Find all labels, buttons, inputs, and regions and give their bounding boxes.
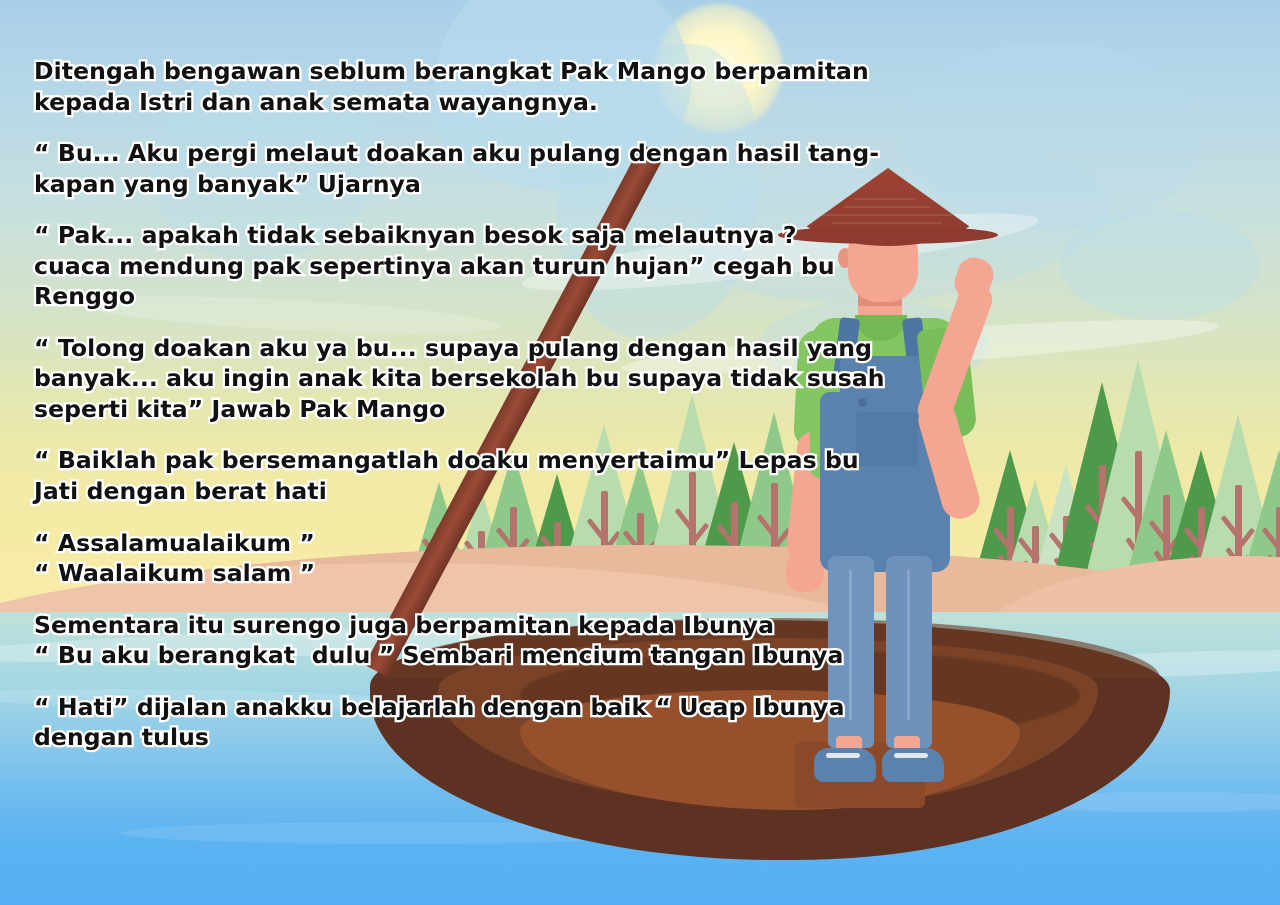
story-line: Sementara itu surengo juga berpamitan ke… [34,610,804,641]
story-line: “ Bu aku berangkat dulu ” Sembari menciu… [34,640,804,671]
story-line: “ Baiklah pak bersemangatlah doaku menye… [34,445,804,476]
story-text-overlay: Ditengah bengawan seblum berangkat Pak M… [34,56,804,753]
overall-button [858,398,867,407]
story-line: “ Pak... apakah tidak sebaiknyan besok s… [34,220,804,251]
story-line: “ Waalaikum salam ” [34,558,804,589]
story-line: “ Tolong doakan aku ya bu... supaya pula… [34,333,804,364]
shoe-band-left [826,753,860,758]
story-line: “ Hati” dijalan anakku belajarlah dengan… [34,692,804,723]
story-line: cuaca mendung pak sepertinya akan turun … [34,251,804,282]
story-line: Jati dengan berat hati [34,476,804,507]
story-paragraph-dialog-pak-mango-2: “ Tolong doakan aku ya bu... supaya pula… [34,333,804,425]
story-paragraph-dialog-bu-renggo: “ Pak... apakah tidak sebaiknyan besok s… [34,220,804,312]
story-line: seperti kita” Jawab Pak Mango [34,394,804,425]
illustration-page: Ditengah bengawan seblum berangkat Pak M… [0,0,1280,905]
story-paragraph-dialog-bu-jati: “ Baiklah pak bersemangatlah doaku menye… [34,445,804,506]
shoe-band-right [894,753,928,758]
story-paragraph-intro: Ditengah bengawan seblum berangkat Pak M… [34,56,804,117]
story-line: banyak... aku ingin anak kita bersekolah… [34,363,804,394]
story-line: Renggo [34,281,804,312]
story-line: Ditengah bengawan seblum berangkat Pak M… [34,56,804,87]
story-line: “ Bu... Aku pergi melaut doakan aku pula… [34,138,804,169]
hat-brim [778,226,998,244]
story-line: dengan tulus [34,722,804,753]
story-line: kapan yang banyak” Ujarnya [34,169,804,200]
story-paragraph-dialog-pak-mango-1: “ Bu... Aku pergi melaut doakan aku pula… [34,138,804,199]
story-line: “ Assalamualaikum ” [34,528,804,559]
story-paragraph-salam: “ Assalamualaikum ”“ Waalaikum salam ” [34,528,804,589]
story-line: kepada Istri dan anak semata wayangnya. [34,87,804,118]
leg-right [886,556,932,748]
overall-pocket [856,412,918,466]
story-paragraph-surengo: Sementara itu surengo juga berpamitan ke… [34,610,804,671]
story-paragraph-pesan-ibu: “ Hati” dijalan anakku belajarlah dengan… [34,692,804,753]
